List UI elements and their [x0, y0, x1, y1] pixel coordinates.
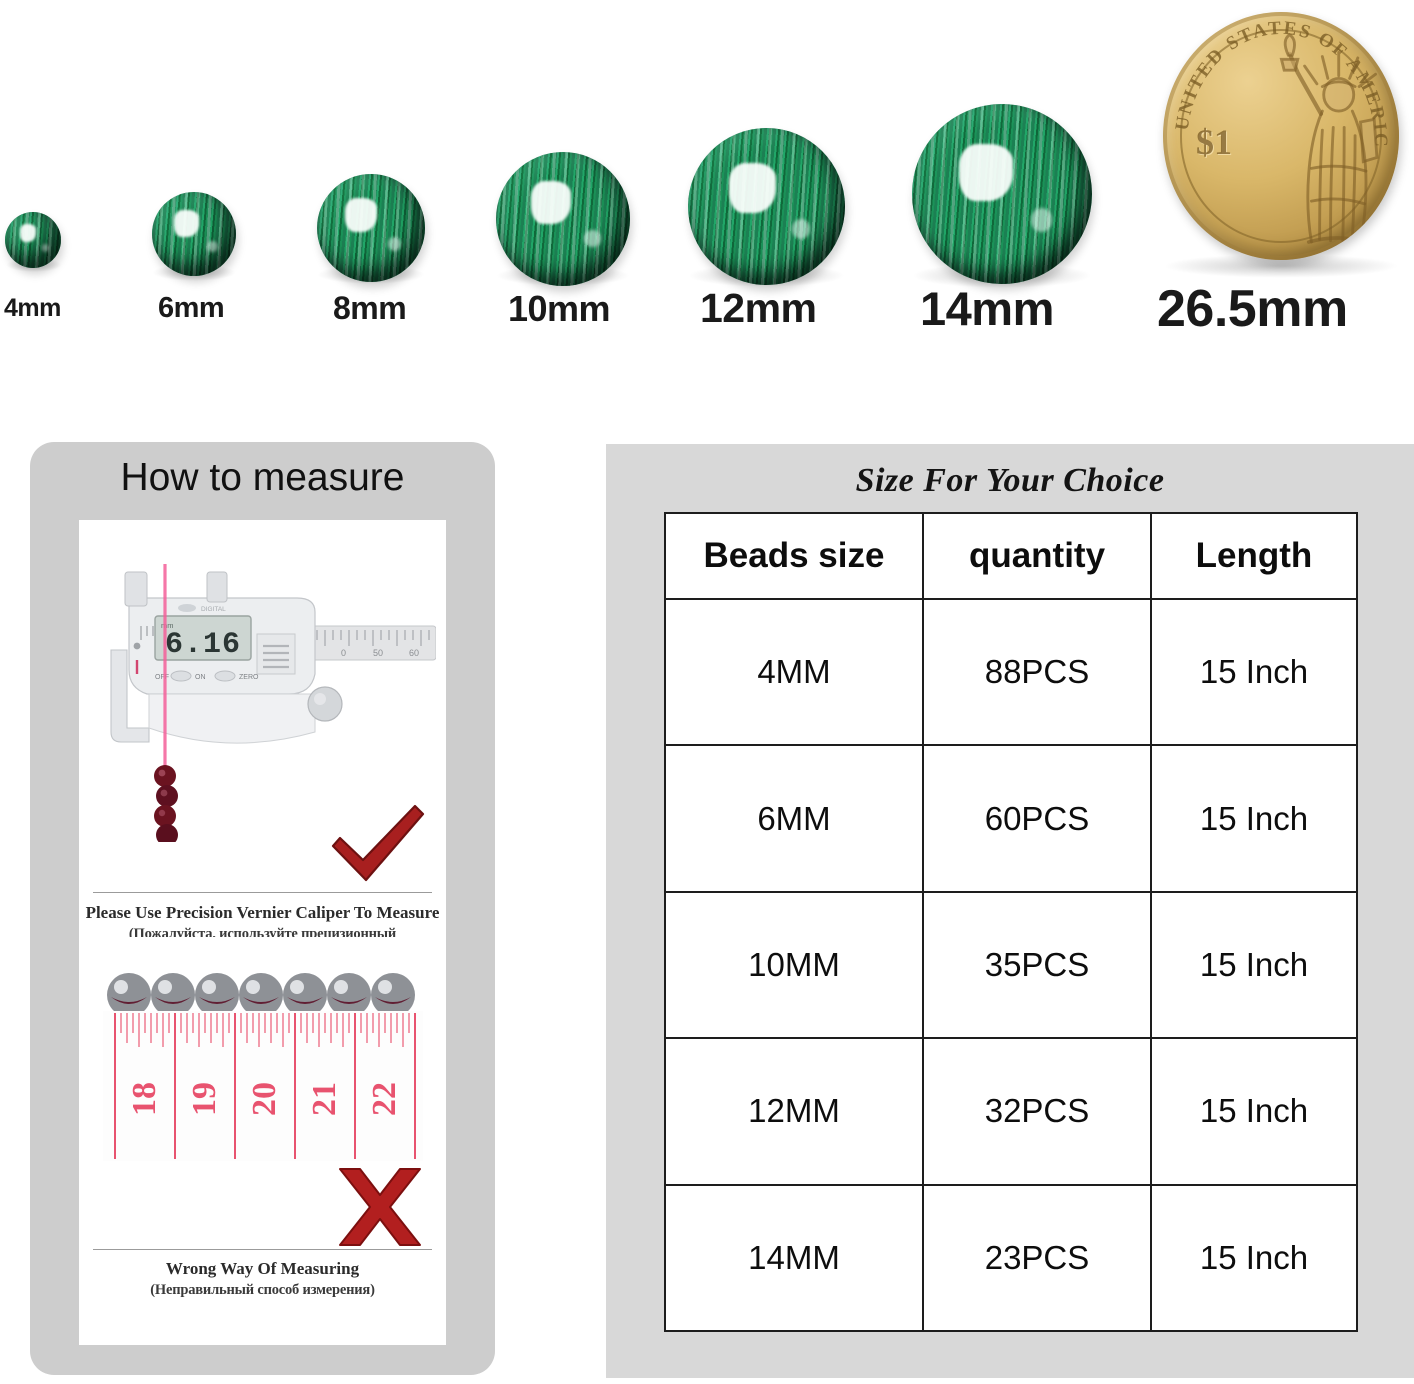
bead-rim-shading: [317, 174, 425, 282]
bead-8mm: [317, 174, 425, 282]
digital-caliper-photo: 0 50 60 mm 6.16: [89, 542, 436, 842]
size-label-12mm: 12mm: [700, 285, 817, 332]
card-divider: [93, 1249, 432, 1250]
tape-tick-21: 21: [306, 1082, 343, 1116]
table-row: 12MM 32PCS 15 Inch: [665, 1038, 1357, 1184]
table-row: 14MM 23PCS 15 Inch: [665, 1185, 1357, 1331]
cell-beads-size: 4MM: [665, 599, 923, 745]
svg-text:ZERO: ZERO: [239, 674, 259, 681]
statue-of-liberty-relief: [1243, 32, 1380, 250]
svg-text:OFF: OFF: [155, 674, 169, 681]
size-label-4mm: 4mm: [4, 294, 61, 323]
cell-quantity: 23PCS: [923, 1185, 1151, 1331]
size-label-14mm: 14mm: [920, 281, 1054, 336]
bead-6mm: [152, 192, 236, 276]
cell-beads-size: 12MM: [665, 1038, 923, 1184]
how-to-measure-title: How to measure: [30, 456, 495, 500]
bead-14mm: [912, 104, 1092, 284]
svg-text:60: 60: [409, 648, 419, 658]
tape-tick-19: 19: [186, 1082, 223, 1116]
cross-mark-icon: [332, 1165, 428, 1249]
table-row: 6MM 60PCS 15 Inch: [665, 745, 1357, 891]
bead-rim-shading: [688, 128, 845, 285]
tape-tick-22: 22: [366, 1082, 403, 1116]
product-size-infographic: 4mm 6mm 8mm: [0, 0, 1414, 1384]
bead-4mm: [5, 212, 61, 268]
column-header-length: Length: [1151, 513, 1357, 599]
bead-12mm: [688, 128, 845, 285]
check-mark-icon: [323, 802, 433, 888]
caliper-reading-value: 6.16: [165, 628, 241, 662]
size-chart-heading: Size For Your Choice: [606, 462, 1414, 500]
bead-size-comparison-row: 4mm 6mm 8mm: [0, 0, 1414, 345]
cell-length: 15 Inch: [1151, 892, 1357, 1038]
tape-tick-18: 18: [126, 1082, 163, 1116]
svg-text:DIGITAL: DIGITAL: [201, 606, 226, 613]
cell-beads-size: 10MM: [665, 892, 923, 1038]
size-label-26-5mm: 26.5mm: [1157, 279, 1348, 339]
cell-length: 15 Inch: [1151, 745, 1357, 891]
coin-denomination: $1: [1196, 121, 1232, 163]
column-header-quantity: quantity: [923, 513, 1151, 599]
cell-beads-size: 6MM: [665, 745, 923, 891]
cell-beads-size: 14MM: [665, 1185, 923, 1331]
svg-text:ON: ON: [195, 674, 206, 681]
card-divider: [93, 892, 432, 893]
cell-length: 15 Inch: [1151, 1038, 1357, 1184]
cell-quantity: 60PCS: [923, 745, 1151, 891]
column-header-beads-size: Beads size: [665, 513, 923, 599]
size-chart-table: Beads size quantity Length 4MM 88PCS 15 …: [664, 512, 1358, 1332]
us-dollar-coin: UNITED STATES OF AMERICA: [1163, 12, 1399, 260]
bead-rim-shading: [5, 212, 61, 268]
size-chart-panel: Size For Your Choice Beads size quantity…: [606, 444, 1414, 1378]
wrong-method-card: 18 19 20 21 22 Wrong Way Of Measuring (Н…: [79, 937, 446, 1345]
svg-text:50: 50: [373, 648, 383, 658]
wrong-caption-en: Wrong Way Of Measuring: [79, 1259, 446, 1279]
cell-length: 15 Inch: [1151, 599, 1357, 745]
svg-text:0: 0: [341, 648, 346, 658]
cell-length: 15 Inch: [1151, 1185, 1357, 1331]
size-label-8mm: 8mm: [333, 290, 406, 327]
bead-rim-shading: [152, 192, 236, 276]
cell-quantity: 32PCS: [923, 1038, 1151, 1184]
size-label-6mm: 6mm: [158, 292, 224, 325]
measuring-tape-photo: 18 19 20 21 22: [89, 951, 436, 1181]
correct-caption-en: Please Use Precision Vernier Caliper To …: [79, 903, 446, 923]
bead-10mm: [496, 152, 630, 286]
correct-method-card: 0 50 60 mm 6.16: [79, 520, 446, 968]
size-label-10mm: 10mm: [508, 288, 610, 330]
table-row: 4MM 88PCS 15 Inch: [665, 599, 1357, 745]
wrong-caption-ru: (Неправильный способ измерения): [79, 1282, 446, 1299]
tape-tick-20: 20: [246, 1082, 283, 1116]
table-header-row: Beads size quantity Length: [665, 513, 1357, 599]
table-row: 10MM 35PCS 15 Inch: [665, 892, 1357, 1038]
bead-rim-shading: [912, 104, 1092, 284]
cell-quantity: 88PCS: [923, 599, 1151, 745]
cell-quantity: 35PCS: [923, 892, 1151, 1038]
bead-rim-shading: [496, 152, 630, 286]
how-to-measure-panel: How to measure 0 50 60: [30, 442, 495, 1375]
